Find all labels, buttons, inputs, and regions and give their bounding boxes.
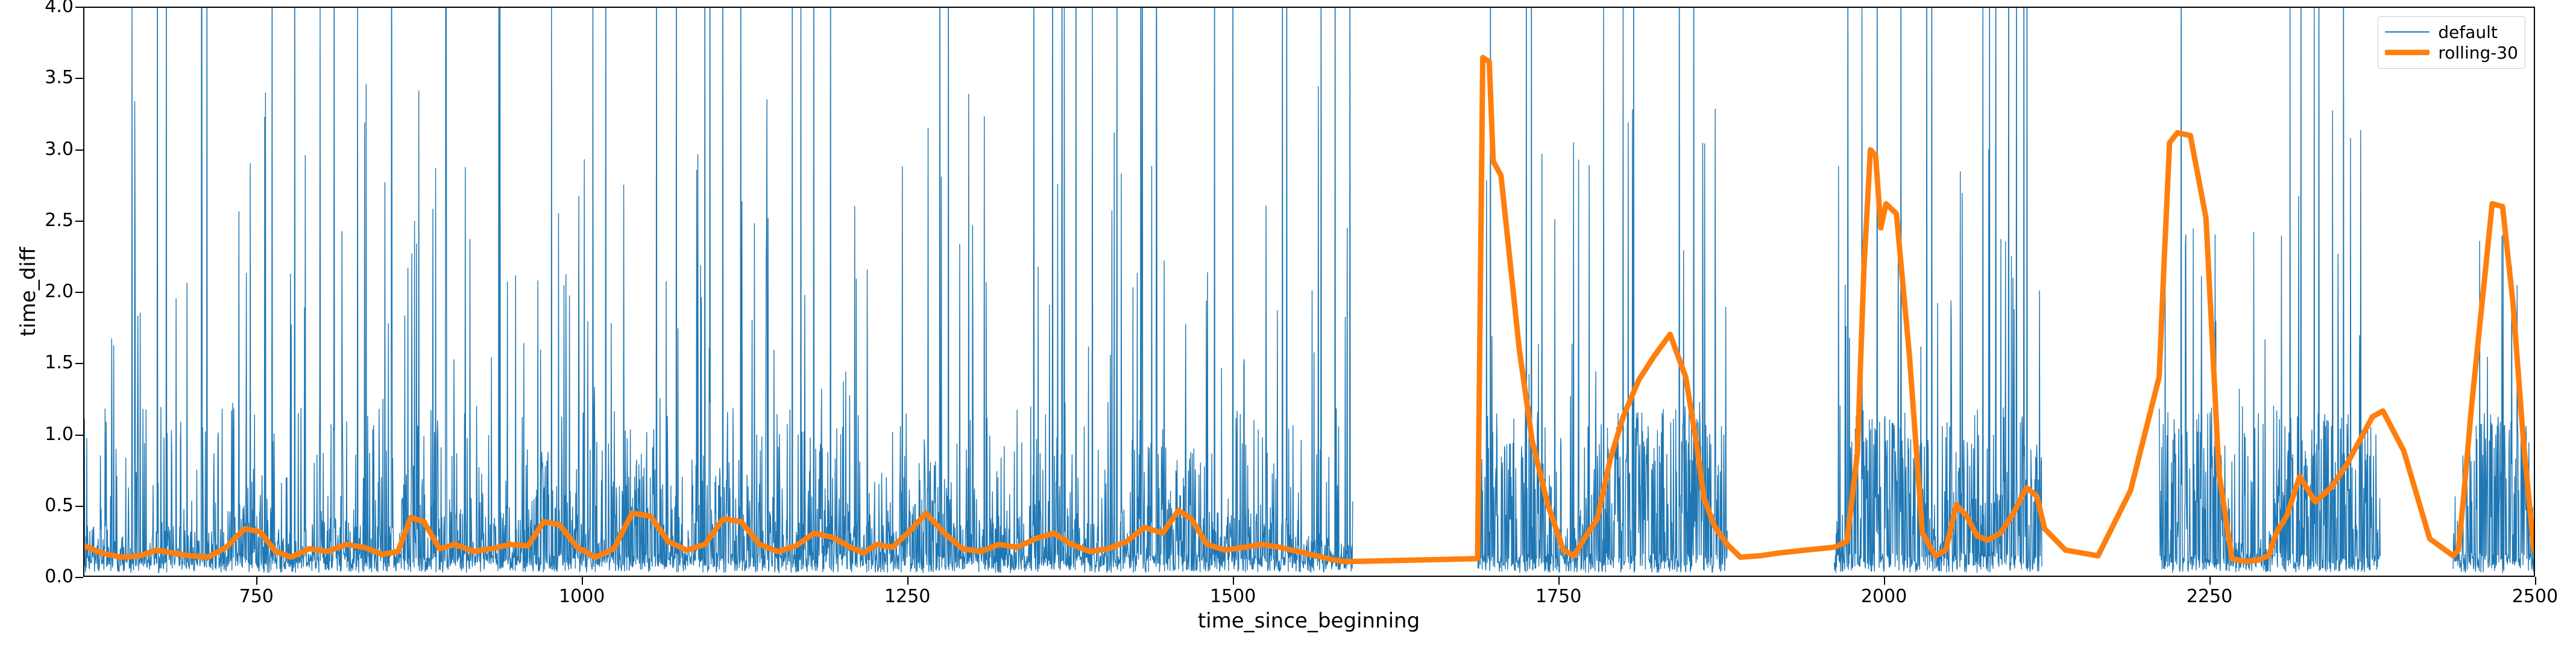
x-tick-label: 1250 bbox=[884, 588, 930, 606]
y-tick-label: 3.5 bbox=[45, 69, 74, 87]
y-tick-mark bbox=[75, 577, 83, 578]
x-tick-label: 2250 bbox=[2187, 588, 2232, 606]
x-tick-mark bbox=[2209, 577, 2211, 585]
legend-label-rolling-30: rolling-30 bbox=[2438, 43, 2518, 63]
x-tick-label: 1750 bbox=[1535, 588, 1581, 606]
legend-label-default: default bbox=[2438, 22, 2498, 42]
legend: default rolling-30 bbox=[2378, 16, 2525, 69]
plot-axes: default rolling-30 bbox=[83, 7, 2535, 577]
legend-item-rolling-30: rolling-30 bbox=[2385, 42, 2518, 63]
y-tick-label: 4.0 bbox=[45, 0, 74, 16]
y-tick-mark bbox=[75, 506, 83, 507]
y-tick-mark bbox=[75, 292, 83, 293]
y-tick-label: 1.0 bbox=[45, 426, 74, 444]
x-tick-mark bbox=[907, 577, 909, 585]
y-tick-label: 0.5 bbox=[45, 497, 74, 515]
y-tick-mark bbox=[75, 78, 83, 79]
x-tick-label: 2000 bbox=[1861, 588, 1907, 606]
series-default-line bbox=[84, 8, 2534, 573]
y-tick-mark bbox=[75, 435, 83, 436]
series-default-group bbox=[84, 8, 2534, 573]
legend-item-default: default bbox=[2385, 22, 2518, 42]
x-tick-mark bbox=[1884, 577, 1885, 585]
x-axis-label: time_since_beginning bbox=[1198, 609, 1420, 633]
x-tick-label: 1000 bbox=[559, 588, 605, 606]
x-tick-label: 2500 bbox=[2512, 588, 2558, 606]
y-tick-mark bbox=[75, 363, 83, 364]
x-tick-label: 1500 bbox=[1210, 588, 1256, 606]
matplotlib-figure: time_diff default rolling-30 0.00.51.01.… bbox=[0, 0, 2576, 648]
y-tick-label: 0.0 bbox=[45, 568, 74, 586]
x-tick-mark bbox=[256, 577, 257, 585]
x-tick-mark bbox=[1233, 577, 1234, 585]
x-tick-mark bbox=[1558, 577, 1560, 585]
y-axis-label: time_diff bbox=[16, 247, 40, 336]
y-tick-label: 2.0 bbox=[45, 283, 74, 301]
y-tick-mark bbox=[75, 149, 83, 151]
y-tick-mark bbox=[75, 7, 83, 8]
x-tick-mark bbox=[2535, 577, 2536, 585]
plot-canvas bbox=[84, 8, 2534, 576]
legend-swatch-rolling-icon bbox=[2385, 46, 2430, 59]
y-tick-label: 2.5 bbox=[45, 212, 74, 230]
x-tick-label: 750 bbox=[239, 588, 274, 606]
y-tick-label: 1.5 bbox=[45, 354, 74, 372]
x-tick-mark bbox=[582, 577, 583, 585]
y-tick-mark bbox=[75, 221, 83, 222]
y-tick-label: 3.0 bbox=[45, 140, 74, 159]
legend-swatch-default-icon bbox=[2385, 25, 2430, 39]
